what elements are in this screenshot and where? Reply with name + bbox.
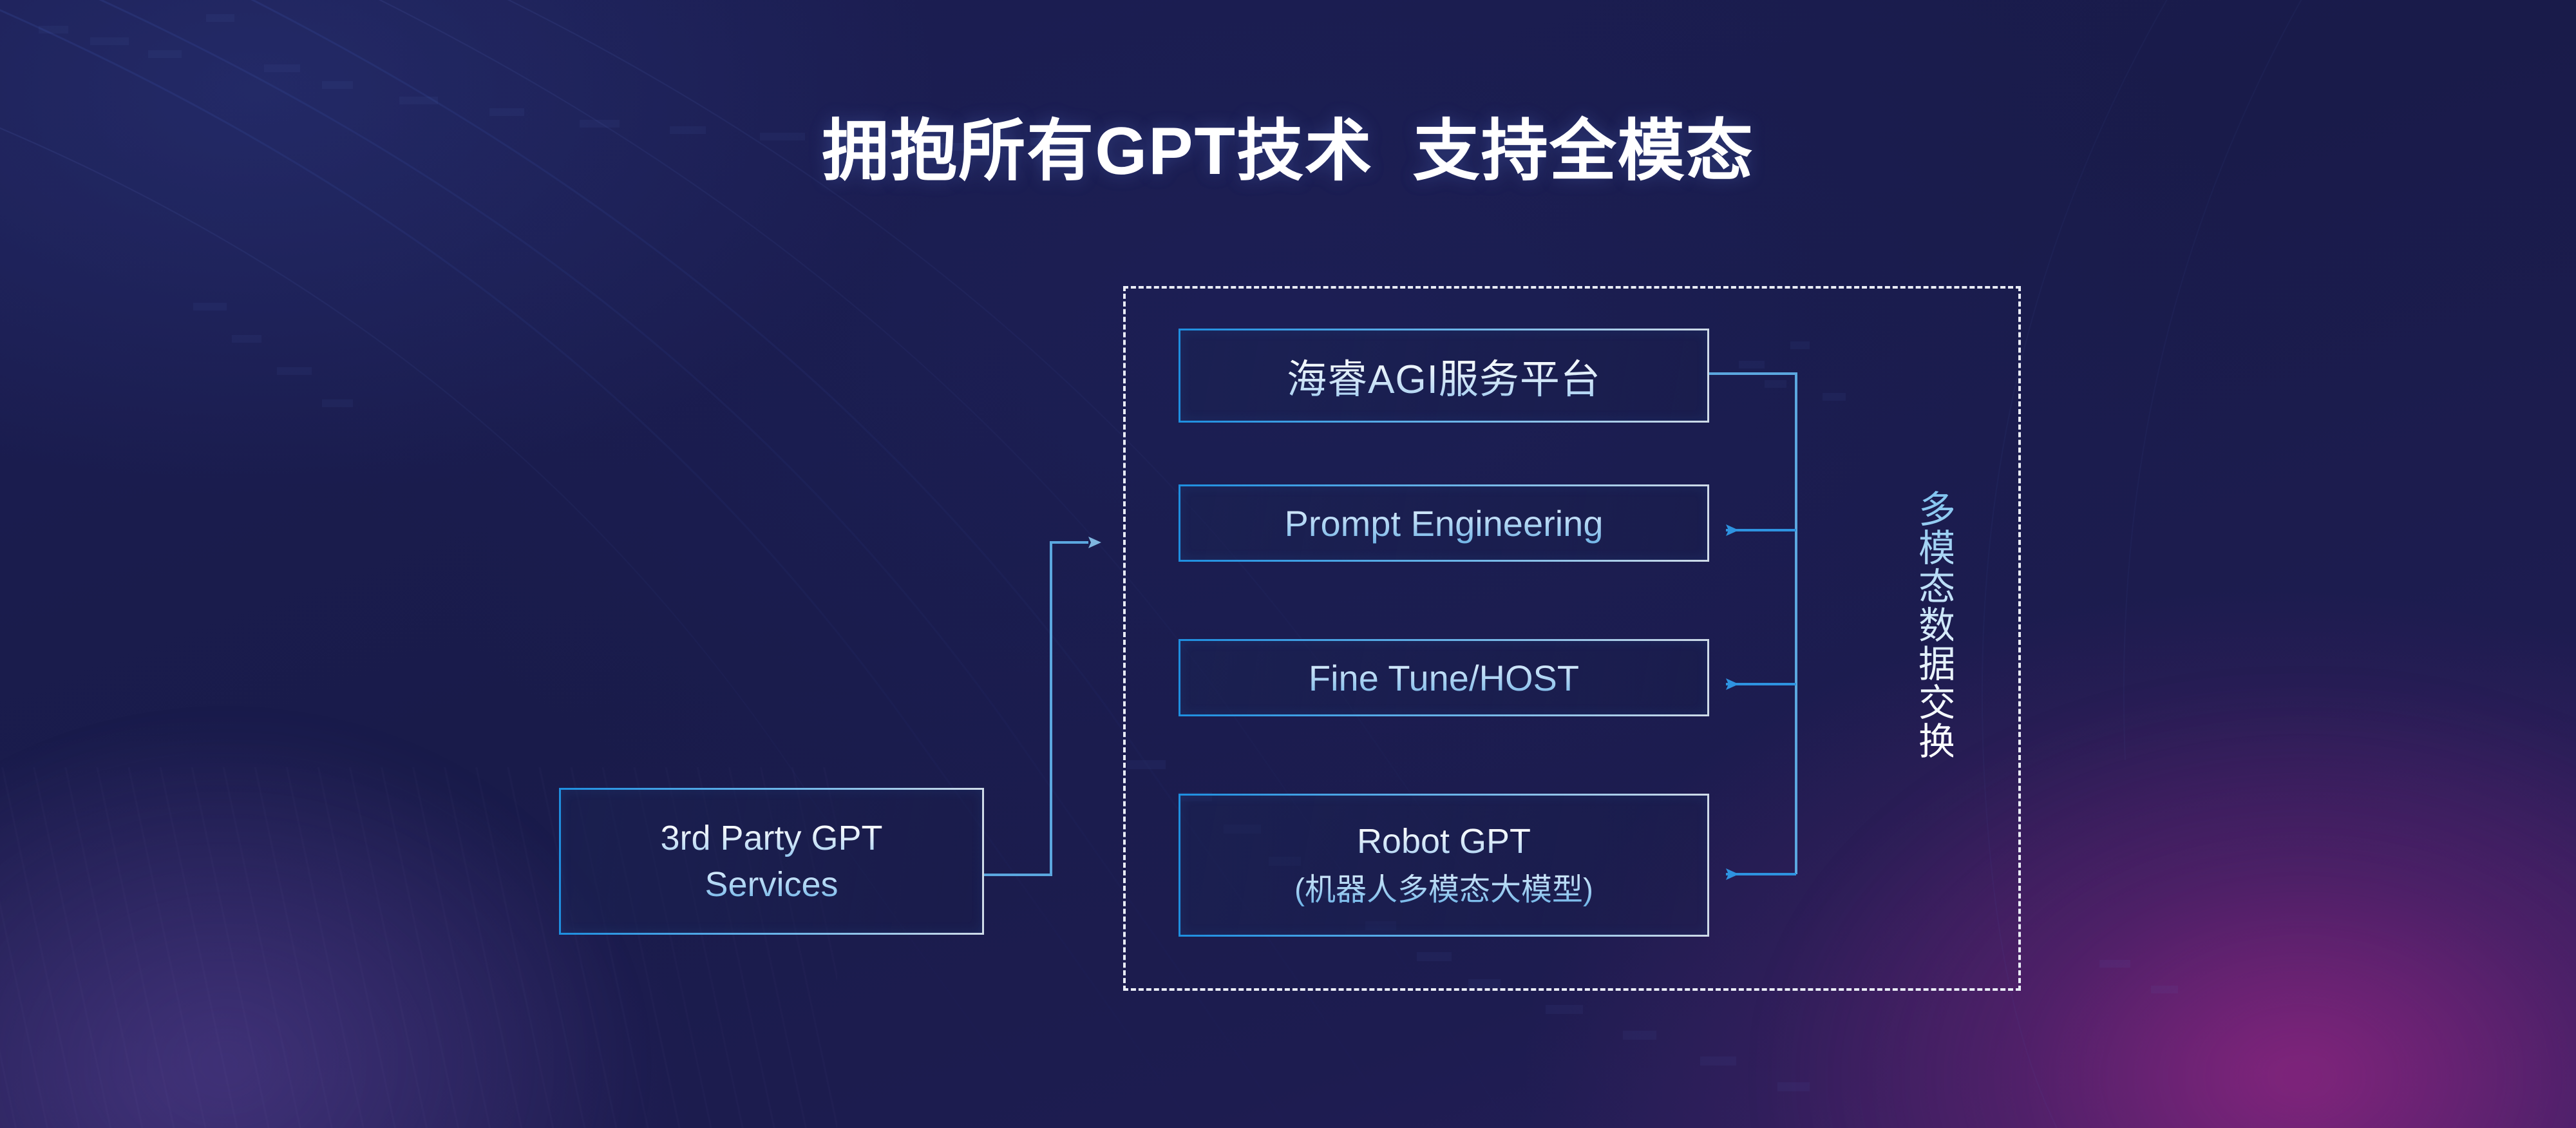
node-prompt-engineering[interactable]: Prompt Engineering xyxy=(1179,484,1709,562)
node-fine-tune-host-label: Fine Tune/HOST xyxy=(1309,657,1579,699)
page-title: 拥抱所有GPT技术 支持全模态 xyxy=(0,115,2576,188)
node-agi-platform[interactable]: 海睿AGI服务平台 xyxy=(1179,329,1709,423)
node-agi-platform-label: 海睿AGI服务平台 xyxy=(1287,347,1601,405)
node-fine-tune-host[interactable]: Fine Tune/HOST xyxy=(1179,639,1709,716)
node-robot-gpt-label-secondary: (机器人多模态大模型) xyxy=(1294,864,1593,909)
node-third-party-gpt-label-secondary: Services xyxy=(705,865,838,904)
node-robot-gpt[interactable]: Robot GPT (机器人多模态大模型) xyxy=(1179,794,1709,937)
node-third-party-gpt[interactable]: 3rd Party GPT Services xyxy=(559,788,984,935)
slide-canvas: 拥抱所有GPT技术 支持全模态 xyxy=(0,0,2576,1128)
side-label-multimodal-data-exchange: 多模态数据交换 xyxy=(1903,490,1953,760)
node-robot-gpt-label-primary: Robot GPT xyxy=(1357,821,1531,861)
node-prompt-engineering-label: Prompt Engineering xyxy=(1285,502,1604,544)
node-third-party-gpt-label-primary: 3rd Party GPT xyxy=(660,818,882,858)
